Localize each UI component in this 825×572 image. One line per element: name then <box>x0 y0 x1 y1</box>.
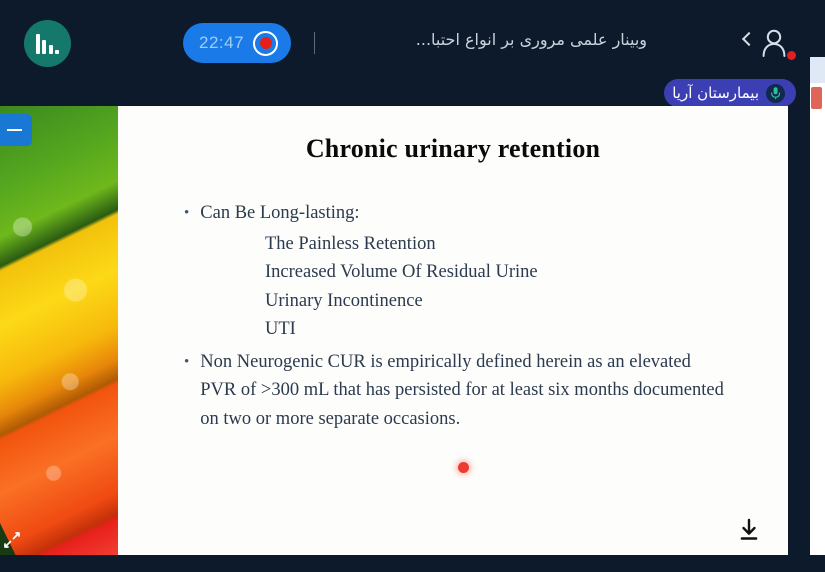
slide-bullet-text: Non Neurogenic CUR is empirically define… <box>200 348 730 434</box>
speaker-name-label: بیمارستان آریا <box>672 84 759 102</box>
participants-notification-badge <box>787 51 796 60</box>
session-title: وبینار علمی مروری بر انواع احتبا... <box>416 30 647 49</box>
webinar-app-window: 22:47 وبینار علمی مروری بر انواع احتبا..… <box>0 0 825 572</box>
participants-button[interactable] <box>747 24 795 66</box>
slide-sub-item: UTI <box>265 315 758 344</box>
person-icon <box>761 28 787 63</box>
active-speaker-badge: بیمارستان آریا <box>664 79 796 107</box>
presentation-slide[interactable]: Chronic urinary retention • Can Be Long-… <box>118 106 788 555</box>
chat-panel-edge[interactable] <box>810 57 825 562</box>
bullet-glyph: • <box>184 199 189 227</box>
logo-bars <box>36 34 60 54</box>
top-bar: 22:47 وبینار علمی مروری بر انواع احتبا..… <box>0 0 825 86</box>
chat-panel-header <box>810 57 825 83</box>
bar-chart-logo-icon <box>24 20 71 67</box>
slide-sub-item: Urinary Incontinence <box>265 287 758 316</box>
chevron-left-icon <box>742 32 756 46</box>
bottom-strip <box>0 555 825 572</box>
slide-sub-list: The Painless Retention Increased Volume … <box>265 230 758 344</box>
laser-pointer-dot <box>458 462 469 473</box>
recording-timer-pill[interactable]: 22:47 <box>183 23 291 63</box>
record-dot-icon[interactable] <box>253 31 278 56</box>
slide-bullet: • Non Neurogenic CUR is empirically defi… <box>184 348 758 434</box>
slide-sub-item: Increased Volume Of Residual Urine <box>265 258 758 287</box>
minimize-icon[interactable] <box>0 114 32 146</box>
slide-bullet-text: Can Be Long-lasting: <box>200 199 359 228</box>
video-frame-droplets <box>0 106 118 555</box>
microphone-icon <box>766 84 785 103</box>
bullet-glyph: • <box>184 348 189 376</box>
slide-bullet: • Can Be Long-lasting: <box>184 199 758 228</box>
recording-timer-label: 22:47 <box>199 33 244 53</box>
chat-panel-alert <box>811 87 822 109</box>
presenter-video-thumbnail[interactable] <box>0 106 118 555</box>
expand-diagonal-icon[interactable] <box>2 530 22 550</box>
slide-title: Chronic urinary retention <box>118 134 788 164</box>
slide-body: • Can Be Long-lasting: The Painless Rete… <box>184 199 758 435</box>
slide-sub-item: The Painless Retention <box>265 230 758 259</box>
download-icon[interactable] <box>736 517 762 543</box>
topbar-divider <box>314 32 315 54</box>
